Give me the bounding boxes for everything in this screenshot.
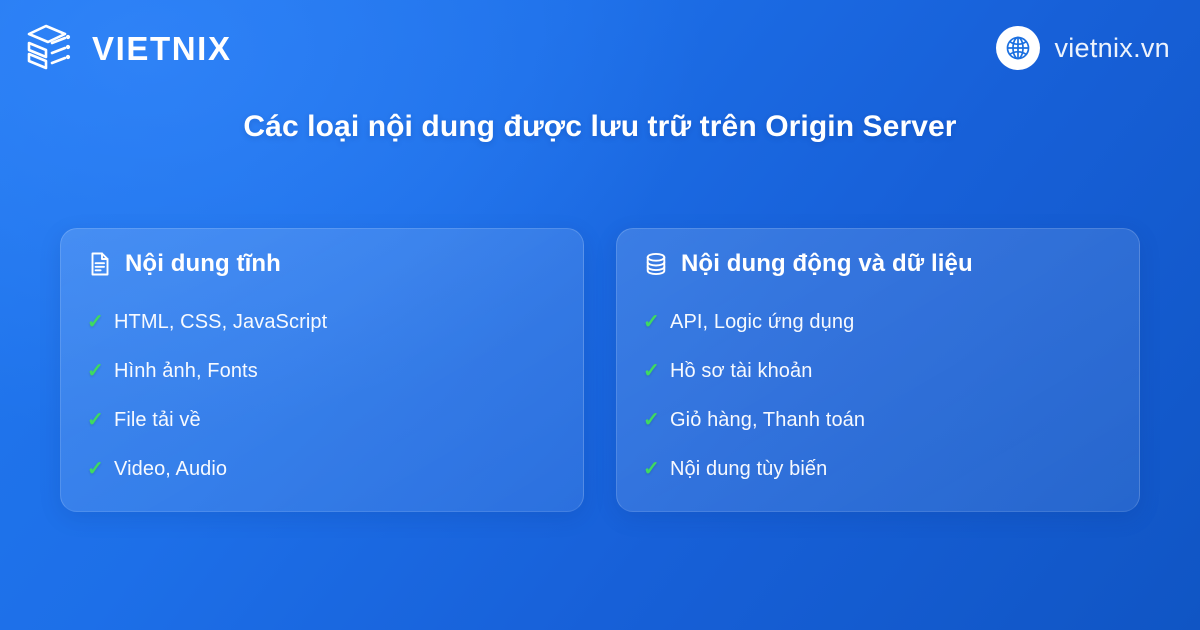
list-item: ✓ Hồ sơ tài khoản [643,346,1113,395]
list-item-label: HTML, CSS, JavaScript [114,310,327,334]
card-header: Nội dung động và dữ liệu [643,251,1113,277]
card-dynamic-content: Nội dung động và dữ liệu ✓ API, Logic ứn… [616,228,1140,512]
brand-logo: VIETNIX [24,23,232,73]
database-icon [643,251,669,277]
check-icon: ✓ [87,361,102,381]
site-url-text: vietnix.vn [1054,35,1170,62]
list-item-label: API, Logic ứng dụng [670,310,854,334]
site-url-group[interactable]: vietnix.vn [996,26,1170,70]
card-item-list: ✓ HTML, CSS, JavaScript ✓ Hình ảnh, Font… [87,297,557,493]
list-item: ✓ Hình ảnh, Fonts [87,346,557,395]
list-item-label: Hồ sơ tài khoản [670,359,812,383]
card-header: Nội dung tĩnh [87,251,557,277]
list-item: ✓ Video, Audio [87,444,557,493]
check-icon: ✓ [87,410,102,430]
check-icon: ✓ [643,410,658,430]
check-icon: ✓ [643,459,658,479]
list-item-label: Giỏ hàng, Thanh toán [670,408,865,432]
list-item-label: Nội dung tùy biến [670,457,827,481]
globe-icon [996,26,1040,70]
stacked-layers-logo-icon [24,23,78,73]
list-item-label: Video, Audio [114,457,227,481]
list-item-label: File tải về [114,408,201,432]
card-title: Nội dung động và dữ liệu [681,251,973,277]
list-item: ✓ HTML, CSS, JavaScript [87,297,557,346]
list-item-label: Hình ảnh, Fonts [114,359,258,383]
check-icon: ✓ [643,361,658,381]
check-icon: ✓ [87,459,102,479]
infographic-poster: VIETNIX vietnix.vn Các loại nội dung [0,0,1200,630]
card-static-content: Nội dung tĩnh ✓ HTML, CSS, JavaScript ✓ … [60,228,584,512]
check-icon: ✓ [643,312,658,332]
page-title: Các loại nội dung được lưu trữ trên Orig… [0,110,1200,144]
document-icon [87,251,113,277]
list-item: ✓ File tải về [87,395,557,444]
card-title: Nội dung tĩnh [125,251,281,277]
card-item-list: ✓ API, Logic ứng dụng ✓ Hồ sơ tài khoản … [643,297,1113,493]
header: VIETNIX vietnix.vn [0,0,1200,96]
cards-row: Nội dung tĩnh ✓ HTML, CSS, JavaScript ✓ … [60,228,1140,512]
list-item: ✓ API, Logic ứng dụng [643,297,1113,346]
list-item: ✓ Nội dung tùy biến [643,444,1113,493]
brand-name: VIETNIX [92,32,232,65]
check-icon: ✓ [87,312,102,332]
list-item: ✓ Giỏ hàng, Thanh toán [643,395,1113,444]
